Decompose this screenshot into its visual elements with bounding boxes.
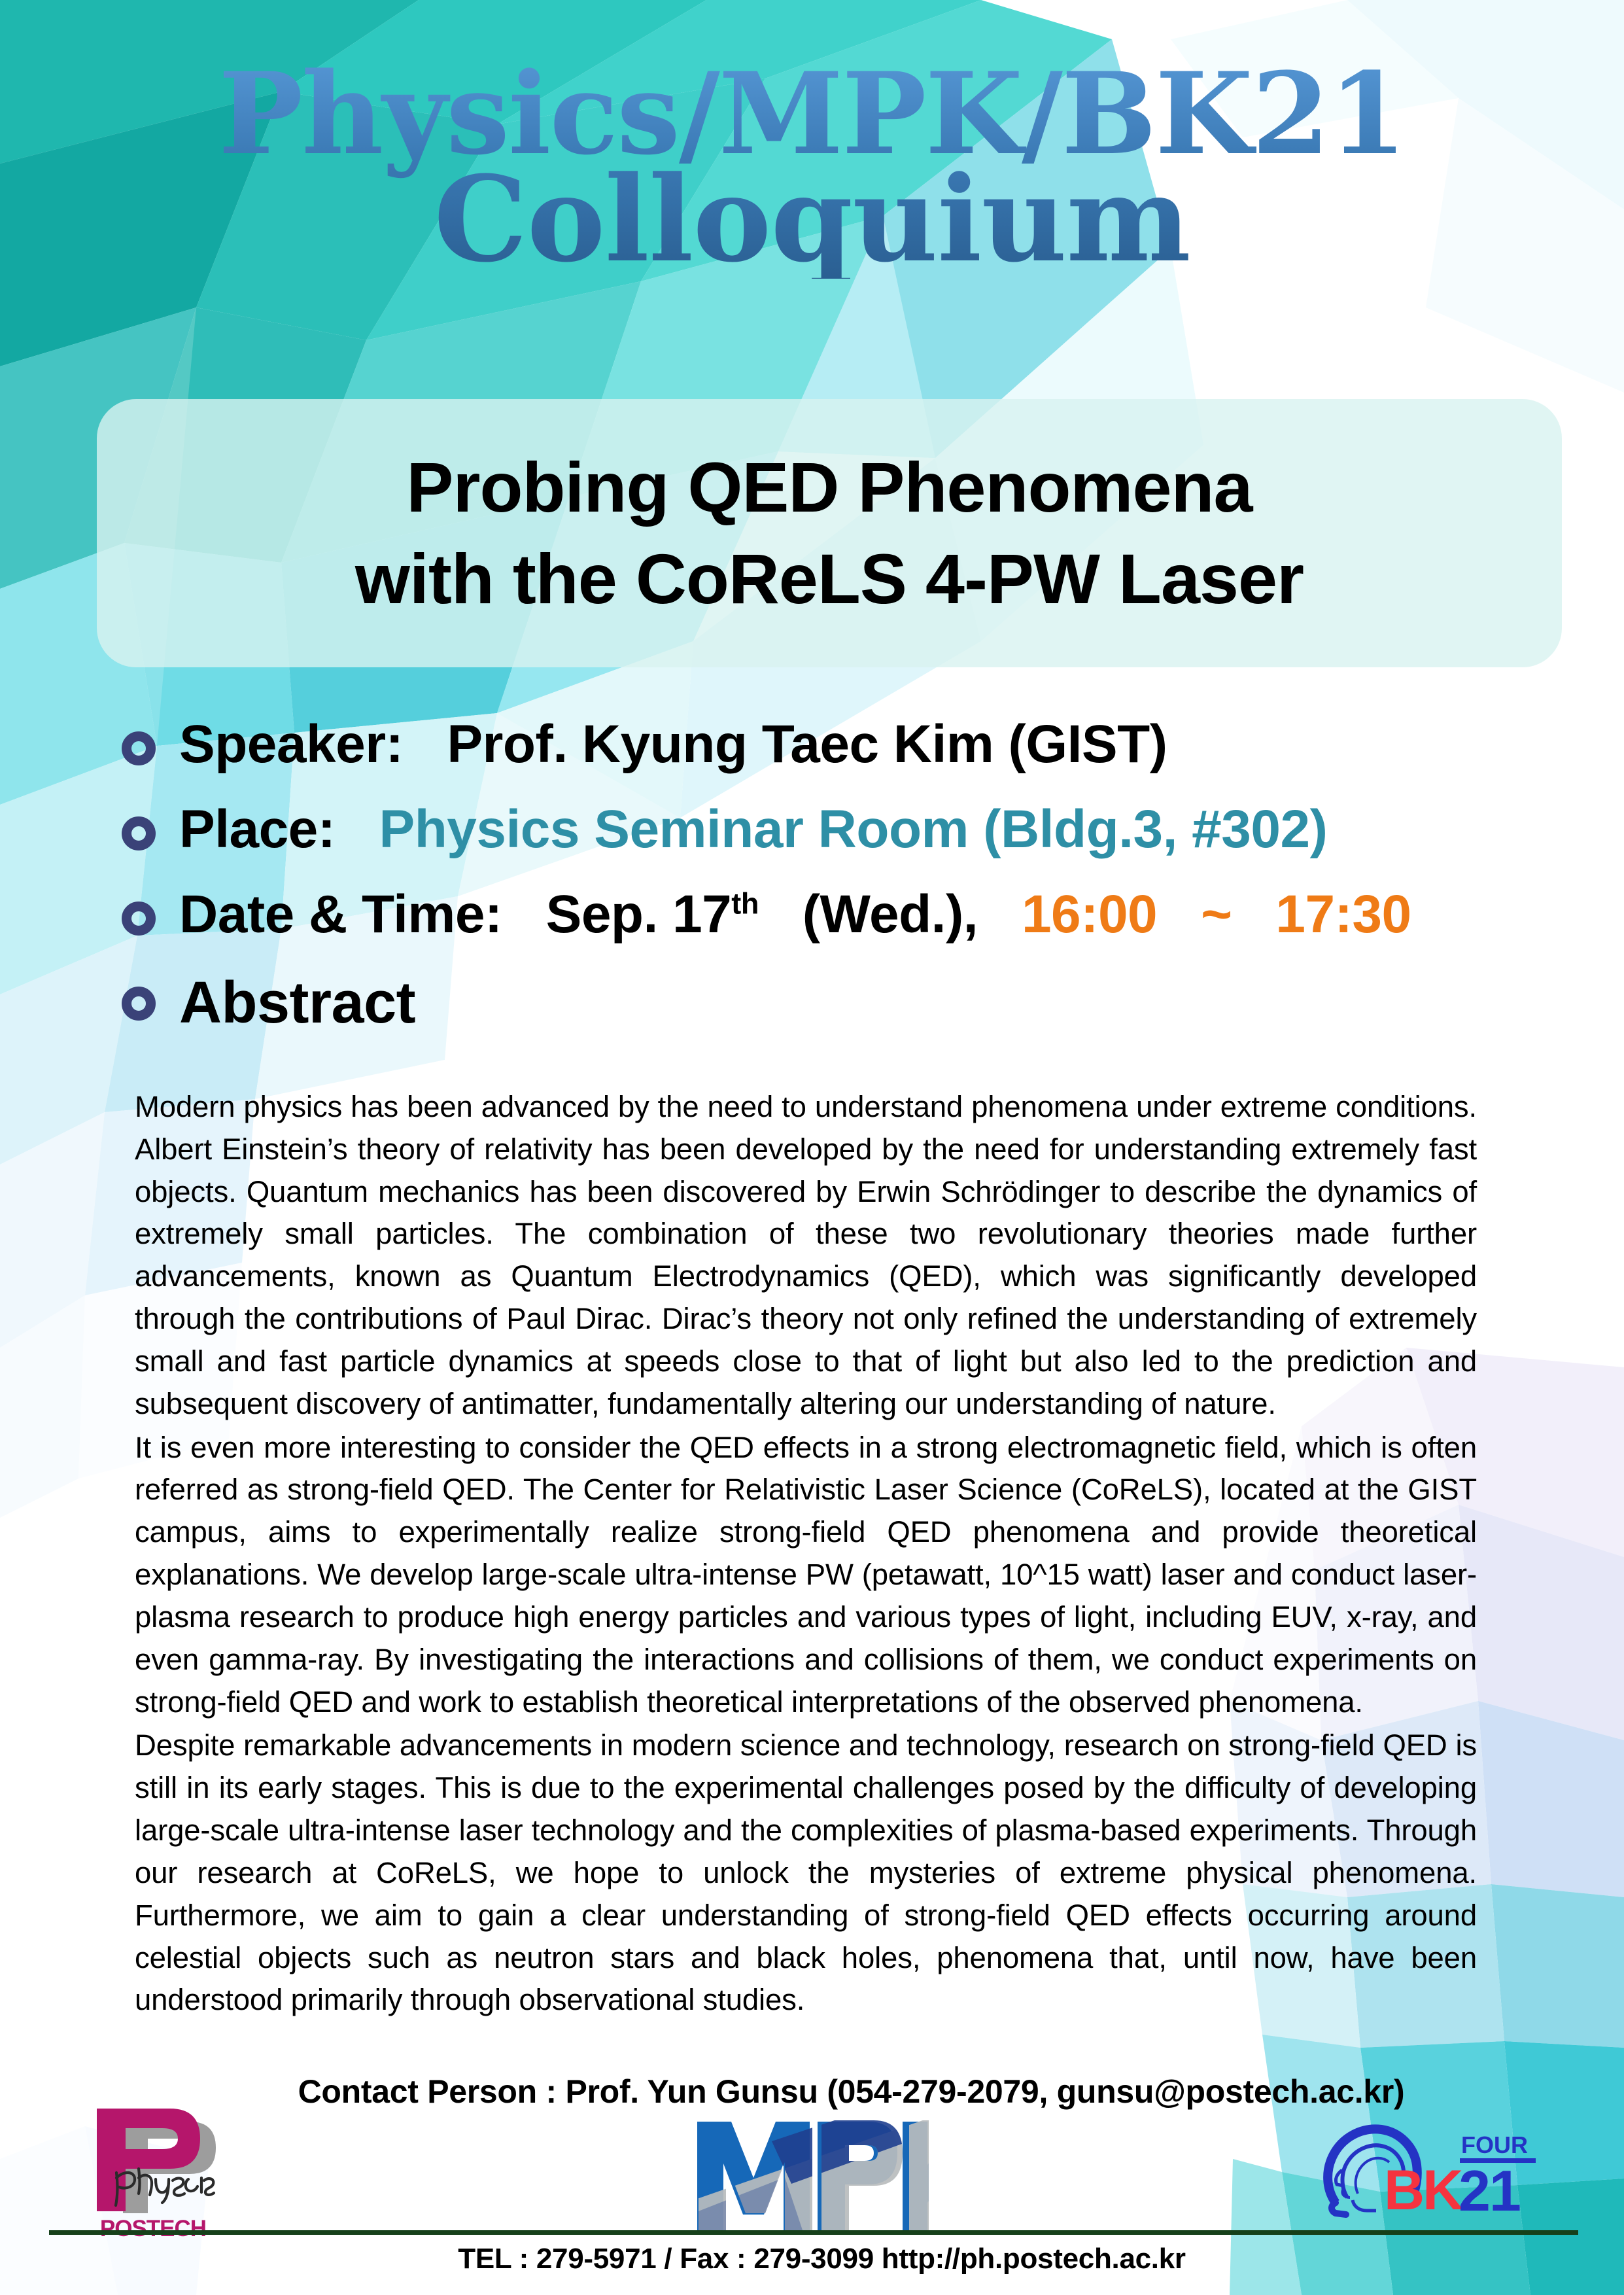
bullet-ring-icon <box>122 987 156 1021</box>
date-ordinal-suffix: th <box>731 887 759 920</box>
bullet-ring-icon <box>122 902 156 936</box>
abstract-body: Modern physics has been advanced by the … <box>135 1086 1477 2022</box>
postech-wordmark: POSTECH <box>100 2216 206 2241</box>
info-row-speaker: Speaker: Prof. Kyung Taec Kim (GIST) <box>122 713 1547 781</box>
bk21-four-logo: BK FOUR 21 <box>1321 2111 1537 2229</box>
abstract-paragraph: It is even more interesting to consider … <box>135 1427 1477 1724</box>
colloquium-banner-title: Physics/MPK/BK21 Colloquium <box>0 58 1624 279</box>
date-time-label: Date & Time: <box>179 885 502 944</box>
mpk-logo <box>693 2115 929 2239</box>
footer-divider-rule <box>49 2230 1578 2235</box>
talk-title-panel: Probing QED Phenomena with the CoReLS 4-… <box>97 399 1562 667</box>
speaker-line: Speaker: Prof. Kyung Taec Kim (GIST) <box>179 713 1167 777</box>
time-separator: ~ <box>1201 885 1232 944</box>
bk-wordmark: BK <box>1384 2159 1463 2222</box>
info-row-place: Place: Physics Seminar Room (Bldg.3, #30… <box>122 798 1547 866</box>
abstract-paragraph: Modern physics has been advanced by the … <box>135 1086 1477 1426</box>
place-label: Place: <box>179 799 336 859</box>
speaker-value: Prof. Kyung Taec Kim (GIST) <box>447 714 1167 774</box>
time-end: 17:30 <box>1275 885 1411 944</box>
speaker-label: Speaker: <box>179 714 403 774</box>
weekday-value: (Wed.), <box>803 885 978 944</box>
date-value: Sep. 17 <box>546 885 732 944</box>
poster-header: Physics/MPK/BK21 Colloquium <box>0 0 1624 393</box>
abstract-heading: Abstract <box>179 968 415 1038</box>
info-row-abstract-heading: Abstract <box>122 968 1547 1038</box>
place-line: Place: Physics Seminar Room (Bldg.3, #30… <box>179 798 1327 862</box>
postech-p-mark-icon <box>97 2109 200 2211</box>
bullet-ring-icon <box>122 816 156 850</box>
date-time-line: Date & Time: Sep. 17th (Wed.), 16:00 ~ 1… <box>179 883 1411 947</box>
twentyone-wordmark: 21 <box>1459 2158 1520 2223</box>
talk-title: Probing QED Phenomena with the CoReLS 4-… <box>355 442 1304 625</box>
footer-tel-line: TEL : 279-5971 / Fax : 279-3099 http://p… <box>0 2243 1624 2275</box>
bullet-ring-icon <box>122 731 156 765</box>
info-row-date-time: Date & Time: Sep. 17th (Wed.), 16:00 ~ 1… <box>122 883 1547 951</box>
four-wordmark: FOUR <box>1461 2131 1528 2158</box>
talk-info-list: Speaker: Prof. Kyung Taec Kim (GIST) Pla… <box>122 713 1547 1043</box>
poster-page: Physics/MPK/BK21 Colloquium Probing QED … <box>0 0 1624 2295</box>
place-value: Physics Seminar Room (Bldg.3, #302) <box>379 799 1328 859</box>
abstract-paragraph: Despite remarkable advancements in moder… <box>135 1725 1477 2022</box>
time-start: 16:00 <box>1022 885 1157 944</box>
mpk-letters-icon <box>693 2115 929 2239</box>
